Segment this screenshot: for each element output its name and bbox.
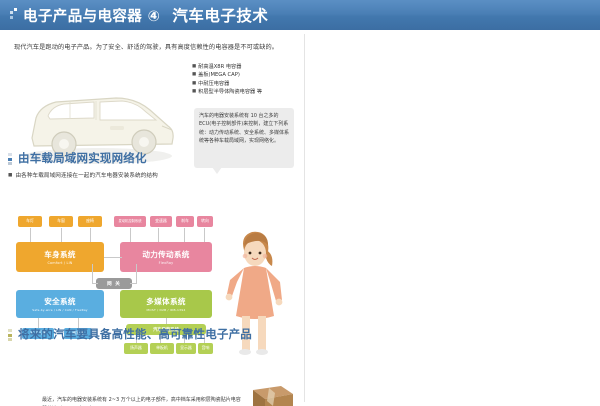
header-dots-icon (10, 8, 20, 22)
diagram-line (30, 228, 31, 242)
intro-paragraph: 现代汽车是跑动的电子产品。为了安全、舒适的驾驶，具有高度信赖性的电容器是不可或缺… (14, 42, 292, 53)
box-power-system-label: 动力传动系统 (142, 249, 189, 260)
pill-body-1: 车窗 (49, 216, 73, 227)
pill-media-3: 音响 (198, 343, 213, 354)
box-power-system-sub: FlexRay (159, 261, 174, 265)
pill-media-2: 显示器 (176, 343, 196, 354)
pill-body-0: 车灯 (18, 216, 42, 227)
box-media-system-label: 多媒体系统 (146, 296, 185, 307)
bullet-item-3: 积层型半导体陶瓷电容器 等 (192, 88, 296, 96)
column-divider (304, 34, 305, 402)
box-safety-system: 安全系统 Safe-by-wire / LIN / CAN / FlexRay (16, 290, 104, 318)
pill-power-3: 转向 (197, 216, 213, 227)
future-note-text: 最近，汽车的电器安装系统有 2~3 万个以上的电子部件，高中档车采用积层陶瓷贴片… (42, 396, 242, 406)
diagram-line (130, 283, 137, 284)
right-column: 耐高温X8R特性电容器 能耐酷寒还能耐机舱高温的广泛温度特性 耐高温X8R特性 … (306, 30, 600, 406)
page-header: 电子产品与电容器 ④ 汽车电子技术 (0, 0, 600, 30)
diagram-line (61, 228, 62, 242)
diagram-line (92, 283, 98, 284)
woman-illustration (214, 220, 290, 370)
section-network-title: 由车载局域网实现网络化 (18, 150, 147, 166)
section-future-title: 将来的汽车要具备高性能、高可靠性电子产品 (18, 326, 252, 342)
section-marker-icon (8, 150, 13, 167)
diagram-line (92, 264, 93, 284)
box-safety-system-sub: Safe-by-wire / LIN / CAN / FlexRay (32, 308, 87, 312)
box-body-system: 车身系统 Comfort / LIN (16, 242, 104, 272)
section-future-header: 将来的汽车要具备高性能、高可靠性电子产品 (8, 326, 252, 343)
box-media-system: 多媒体系统 MOST / D2B / IDB-1394 (120, 290, 212, 318)
bullet-item-2: 中耐压电容器 (192, 80, 296, 88)
box-gateway-label: 网 关 (107, 281, 121, 287)
pill-power-1: 变速器 (150, 216, 172, 227)
pill-media-0: 扬声器 (124, 343, 148, 354)
box-body-system-sub: Comfort / LIN (47, 261, 72, 265)
diagram-line (130, 228, 131, 242)
pill-power-2: 刹车 (176, 216, 194, 227)
page-root: 电子产品与电容器 ④ 汽车电子技术 现代汽车是跑动的电子产品。为了安全、舒适的驾… (0, 0, 600, 406)
page-title: 电子产品与电容器 ④ (23, 5, 160, 26)
diagram-line (158, 228, 159, 242)
bullet-item-1: 盖板(MEGA CAP) (192, 71, 296, 79)
section-network-header: 由车载局域网实现网络化 由各种车载局域网连接在一起的汽车电器安装系统的结构 (8, 150, 158, 179)
diagram-line (204, 228, 205, 242)
product-bullet-list: 耐高温X8R 电容器 盖板(MEGA CAP) 中耐压电容器 积层型半导体陶瓷电… (192, 63, 296, 97)
box-gateway: 网 关 (96, 278, 132, 289)
diagram-line (104, 257, 122, 258)
box-body-system-label: 车身系统 (44, 249, 76, 260)
section-network-subtitle: 由各种车载局域网连接在一起的汽车电器安装系统的结构 (8, 171, 158, 179)
box-media-system-sub: MOST / D2B / IDB-1394 (147, 308, 186, 312)
box-power-system: 动力传动系统 FlexRay (120, 242, 212, 272)
page-subtitle: 汽车电子技术 (172, 4, 268, 26)
pill-body-2: 座椅 (78, 216, 102, 227)
bullet-item-0: 耐高温X8R 电容器 (192, 63, 296, 71)
pill-power-0: 发动机控制系统 (114, 216, 146, 227)
diagram-line (136, 264, 137, 284)
box-safety-system-label: 安全系统 (44, 296, 76, 307)
car-ecu-note: 汽车的电器安装系统有 10 台之多的ECU(电子控制部件)来控制，建立下列系统：… (194, 108, 294, 168)
left-column: 现代汽车是跑动的电子产品。为了安全、舒适的驾驶，具有高度信赖性的电容器是不可或缺… (0, 30, 303, 406)
section-marker-icon (8, 326, 13, 343)
parcel-illustration (243, 382, 297, 406)
diagram-line (184, 228, 185, 242)
pill-media-1: 单板机 (150, 343, 174, 354)
diagram-line (90, 228, 91, 242)
